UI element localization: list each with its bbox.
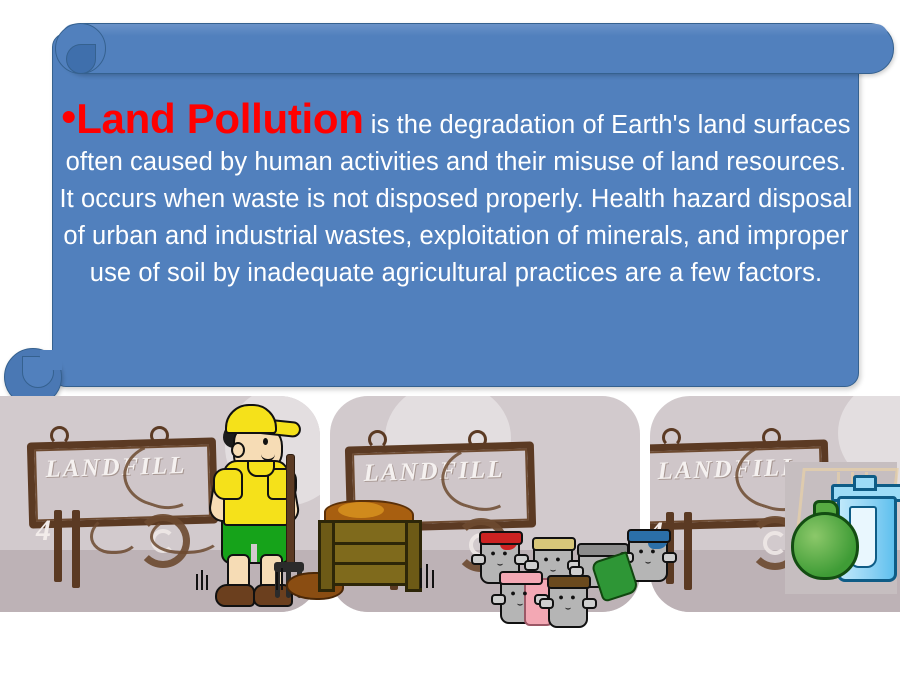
scroll-top-bar-highlight — [62, 24, 888, 36]
bullet-marker: • — [61, 93, 76, 140]
can-arm-left — [524, 560, 539, 571]
can-lid — [499, 571, 543, 585]
compost-crate — [318, 500, 416, 586]
sign-scribble — [90, 514, 140, 554]
landfill-sign-1: LANDFILL 4 — [28, 418, 218, 578]
sign-post — [72, 510, 80, 588]
grass-tuft — [426, 564, 428, 588]
trash-bin-knob — [853, 475, 877, 491]
can-eyes: ● ● — [638, 546, 657, 556]
boy-boot-left — [215, 584, 255, 607]
can-arm-left — [491, 594, 506, 605]
can-arm-left — [539, 598, 554, 609]
grass-tuft — [432, 570, 434, 588]
can-mouth: ⌣ — [635, 558, 661, 567]
sign-number: 4 — [36, 514, 51, 548]
boy-ear — [231, 442, 245, 458]
can-lid — [547, 575, 591, 589]
trash-can-character: ● ●⌣ — [548, 580, 588, 628]
scroll-banner: •Land Pollution is the degradation of Ea… — [0, 0, 900, 400]
can-face: ● ●⌣ — [540, 555, 566, 575]
boy-collar — [247, 460, 275, 477]
grass-tuft — [276, 572, 278, 590]
can-mouth: ⌣ — [507, 600, 533, 609]
boy-shorts-gap — [251, 544, 257, 562]
boy-figure — [205, 398, 325, 598]
can-eyes: ● ● — [510, 588, 529, 598]
can-eyes: ● ● — [490, 548, 509, 558]
grass-tuft — [201, 570, 203, 590]
bag-and-bin-graphic — [785, 462, 897, 597]
slide-canvas: •Land Pollution is the degradation of Ea… — [0, 0, 900, 675]
can-face: ● ●⌣ — [507, 589, 533, 609]
can-lid — [479, 531, 523, 545]
grass-tuft — [196, 574, 198, 590]
grass-tuft — [206, 575, 208, 590]
pitchfork-handle — [286, 454, 295, 572]
sign-post — [684, 512, 692, 590]
boy-sleeve-left — [213, 468, 243, 500]
can-eyes: ● ● — [543, 554, 562, 564]
can-arm-left — [471, 554, 486, 565]
boy-cap — [225, 404, 277, 434]
grass-tuft — [281, 568, 283, 590]
can-eyes: ● ● — [558, 592, 577, 602]
can-arm-right — [582, 598, 597, 609]
key-term-land-pollution: Land Pollution — [76, 95, 363, 142]
can-mouth: ⌣ — [555, 604, 581, 613]
compost-heap-highlight — [338, 502, 384, 518]
scroll-curl-top-left-inner — [66, 44, 96, 74]
slide-body-text: •Land Pollution is the degradation of Ea… — [56, 100, 856, 292]
boy-eye — [263, 438, 268, 445]
can-face: ● ●⌣ — [635, 547, 661, 567]
can-lid — [532, 537, 576, 551]
garbage-bag — [791, 512, 859, 580]
sign-post — [54, 510, 62, 582]
can-face: ● ●⌣ — [555, 593, 581, 613]
can-arm-right — [662, 552, 677, 563]
can-face: ● ●⌣ — [487, 549, 513, 569]
crate-edge-left — [318, 520, 335, 592]
scroll-curl-bottom-left-notch — [40, 350, 62, 370]
trash-can-character: ● ●⌣ — [500, 576, 540, 624]
grass-tuft — [420, 568, 422, 588]
can-mouth: ⌣ — [540, 566, 566, 575]
can-lid — [627, 529, 671, 543]
landfill-illustration: LANDFILL 4 LANDFILL 4 — [0, 396, 900, 675]
can-mouth: ⌣ — [487, 560, 513, 569]
